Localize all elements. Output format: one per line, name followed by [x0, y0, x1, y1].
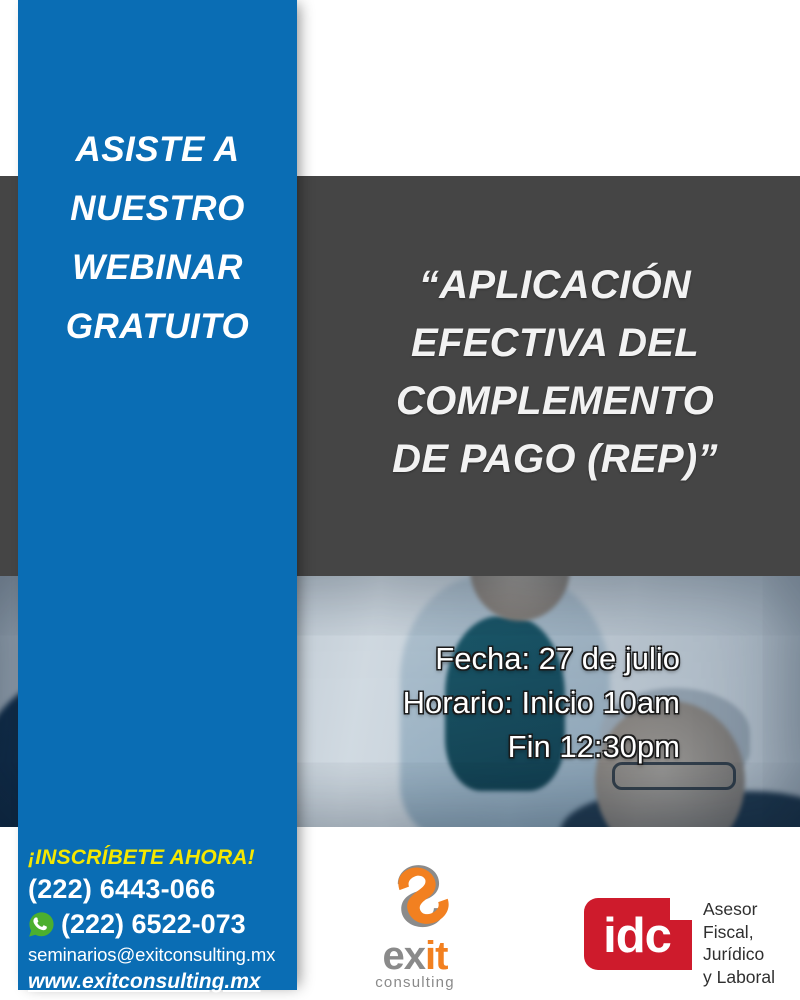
webinar-promo-poster: ASISTE A NUESTRO WEBINAR GRATUITO “APLIC… — [0, 0, 800, 1000]
idc-tagline-line-2: Fiscal, — [703, 921, 775, 944]
exit-consulting-logo: exit consulting — [352, 860, 478, 991]
schedule-start: Horario: Inicio 10am — [330, 681, 680, 725]
idc-tagline-line-1: Asesor — [703, 898, 775, 921]
exit-tagline: consulting — [352, 974, 478, 991]
phone-primary[interactable]: (222) 6443-066 — [28, 872, 300, 906]
title-line-3: COMPLEMENTO — [330, 372, 780, 430]
idc-tagline-line-4: y Laboral — [703, 966, 775, 989]
register-now-cta[interactable]: ¡INSCRÍBETE AHORA! — [28, 846, 300, 870]
headline-line-4: GRATUITO — [34, 297, 281, 356]
headline-line-1: ASISTE A — [34, 120, 281, 179]
idc-tagline-line-3: Jurídico — [703, 943, 775, 966]
whatsapp-icon — [28, 911, 55, 938]
title-line-2: EFECTIVA DEL — [330, 314, 780, 372]
phone-whatsapp-number: (222) 6522-073 — [61, 907, 246, 941]
schedule-end: Fin 12:30pm — [330, 725, 680, 769]
website-link[interactable]: www.exitconsulting.mx — [28, 968, 300, 995]
headline-line-2: NUESTRO — [34, 179, 281, 238]
title-line-4: DE PAGO (REP)” — [330, 430, 780, 488]
phone-whatsapp-row[interactable]: (222) 6522-073 — [28, 907, 300, 941]
contact-email[interactable]: seminarios@exitconsulting.mx — [28, 943, 300, 967]
exit-knot-icon — [372, 860, 458, 934]
exit-wordmark-ex: ex — [383, 934, 426, 978]
exit-wordmark-it: it — [425, 934, 447, 978]
schedule-block: Fecha: 27 de julio Horario: Inicio 10am … — [330, 637, 680, 769]
idc-wordmark: idc — [603, 912, 671, 961]
headline-line-3: WEBINAR — [34, 238, 281, 297]
title-line-1: “APLICACIÓN — [330, 256, 780, 314]
idc-badge: idc — [584, 898, 692, 970]
page-title: “APLICACIÓN EFECTIVA DEL COMPLEMENTO DE … — [330, 256, 780, 488]
schedule-date: Fecha: 27 de julio — [330, 637, 680, 681]
headline-block: ASISTE A NUESTRO WEBINAR GRATUITO — [18, 120, 297, 356]
exit-wordmark: exit — [352, 936, 478, 976]
idc-tagline: Asesor Fiscal, Jurídico y Laboral — [703, 898, 775, 988]
idc-logo: idc Asesor Fiscal, Jurídico y Laboral — [584, 898, 775, 988]
contact-block: ¡INSCRÍBETE AHORA! (222) 6443-066 (222) … — [28, 846, 300, 995]
